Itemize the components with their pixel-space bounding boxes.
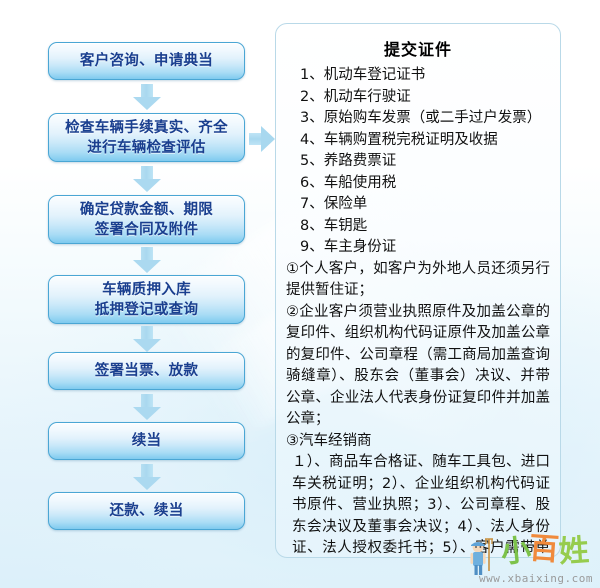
flow-step-label: 车辆质押入库	[95, 280, 199, 300]
arrow-down-icon	[133, 84, 161, 110]
flow-step-label: 进行车辆检查评估	[65, 138, 228, 158]
flow-step-box[interactable]: 确定贷款金额、期限 签署合同及附件	[48, 195, 245, 244]
list-item: 2、机动车行驶证	[286, 87, 550, 109]
panel-title: 提交证件	[286, 36, 550, 60]
flowchart-canvas: 客户咨询、申请典当 检查车辆手续真实、齐全 进行车辆检查评估 确定贷款金额、期限…	[0, 0, 600, 588]
flow-step-box[interactable]: 还款、续当	[48, 492, 245, 530]
flow-step-label: 签署合同及附件	[80, 220, 213, 240]
watermark-url: www.xbaixing.com	[479, 572, 593, 585]
flow-step-box[interactable]: 车辆质押入库 抵押登记或查询	[48, 275, 245, 324]
note-paragraph: ②企业客户须营业执照原件及加盖公章的复印件、组织机构代码证原件及加盖公章的复印件…	[286, 302, 550, 431]
flow-step-label: 客户咨询、申请典当	[80, 51, 213, 71]
flow-step-box[interactable]: 续当	[48, 422, 245, 460]
list-item: 5、养路费票证	[286, 151, 550, 173]
arrow-down-icon	[133, 394, 161, 420]
note-paragraph: ③汽车经销商	[286, 431, 550, 453]
list-item: 3、原始购车发票（或二手过户发票）	[286, 108, 550, 130]
arrow-down-icon	[133, 326, 161, 352]
list-item: 8、车钥匙	[286, 216, 550, 238]
flow-step-box[interactable]: 检查车辆手续真实、齐全 进行车辆检查评估	[48, 113, 245, 162]
flow-step-label: 续当	[132, 431, 162, 451]
list-item: 6、车船使用税	[286, 173, 550, 195]
arrow-down-icon	[133, 464, 161, 490]
flow-step-label: 抵押登记或查询	[95, 300, 199, 320]
watermark-logo-char: 姓	[558, 536, 590, 568]
required-documents-panel: 提交证件 1、机动车登记证书 2、机动车行驶证 3、原始购车发票（或二手过户发票…	[275, 23, 561, 558]
arrow-down-icon	[133, 166, 161, 192]
list-item: 4、车辆购置税完税证明及收据	[286, 130, 550, 152]
note-paragraph: １）、商品车合格证、随车工具包、进口车关税证明；2）、企业组织机构代码证书原件、…	[286, 452, 550, 558]
arrow-right-icon	[249, 126, 275, 152]
flow-step-label: 还款、续当	[110, 501, 184, 521]
list-item: 7、保险单	[286, 194, 550, 216]
arrow-down-icon	[133, 247, 161, 273]
list-item: 1、机动车登记证书	[286, 65, 550, 87]
flow-step-box[interactable]: 客户咨询、申请典当	[48, 42, 245, 80]
flow-step-box[interactable]: 签署当票、放款	[48, 352, 245, 390]
flow-step-label: 检查车辆手续真实、齐全	[65, 118, 228, 138]
flow-step-label: 签署当票、放款	[95, 361, 199, 381]
required-documents-list: 1、机动车登记证书 2、机动车行驶证 3、原始购车发票（或二手过户发票） 4、车…	[286, 65, 550, 259]
note-paragraph: ①个人客户，如客户为外地人员还须另行提供暂住证；	[286, 259, 550, 302]
list-item: 9、车主身份证	[286, 237, 550, 259]
flow-step-label: 确定贷款金额、期限	[80, 200, 213, 220]
